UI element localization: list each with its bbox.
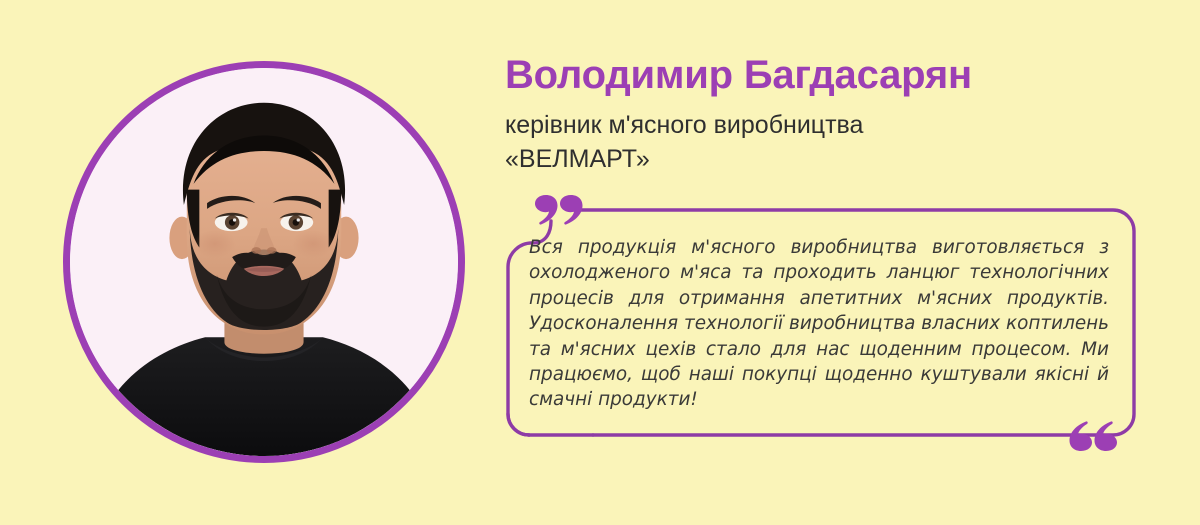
quote-text: Вся продукція м'ясного виробництва вигот… [529,235,1109,413]
quote-close-icon [1067,419,1119,453]
quote-box: Вся продукція м'ясного виробництва вигот… [507,205,1135,440]
testimonial-card: Володимир Багдасарян керівник м'ясного в… [0,0,1200,525]
quote-open-icon [533,193,585,227]
content-column: Володимир Багдасарян керівник м'ясного в… [505,0,1145,525]
person-role: керівник м'ясного виробництва «ВЕЛМАРТ» [505,108,1125,176]
avatar [63,61,465,463]
avatar-photo [70,68,458,456]
person-role-line-1: керівник м'ясного виробництва [505,108,1125,142]
person-name: Володимир Багдасарян [505,52,972,98]
person-role-line-2: «ВЕЛМАРТ» [505,142,1125,176]
